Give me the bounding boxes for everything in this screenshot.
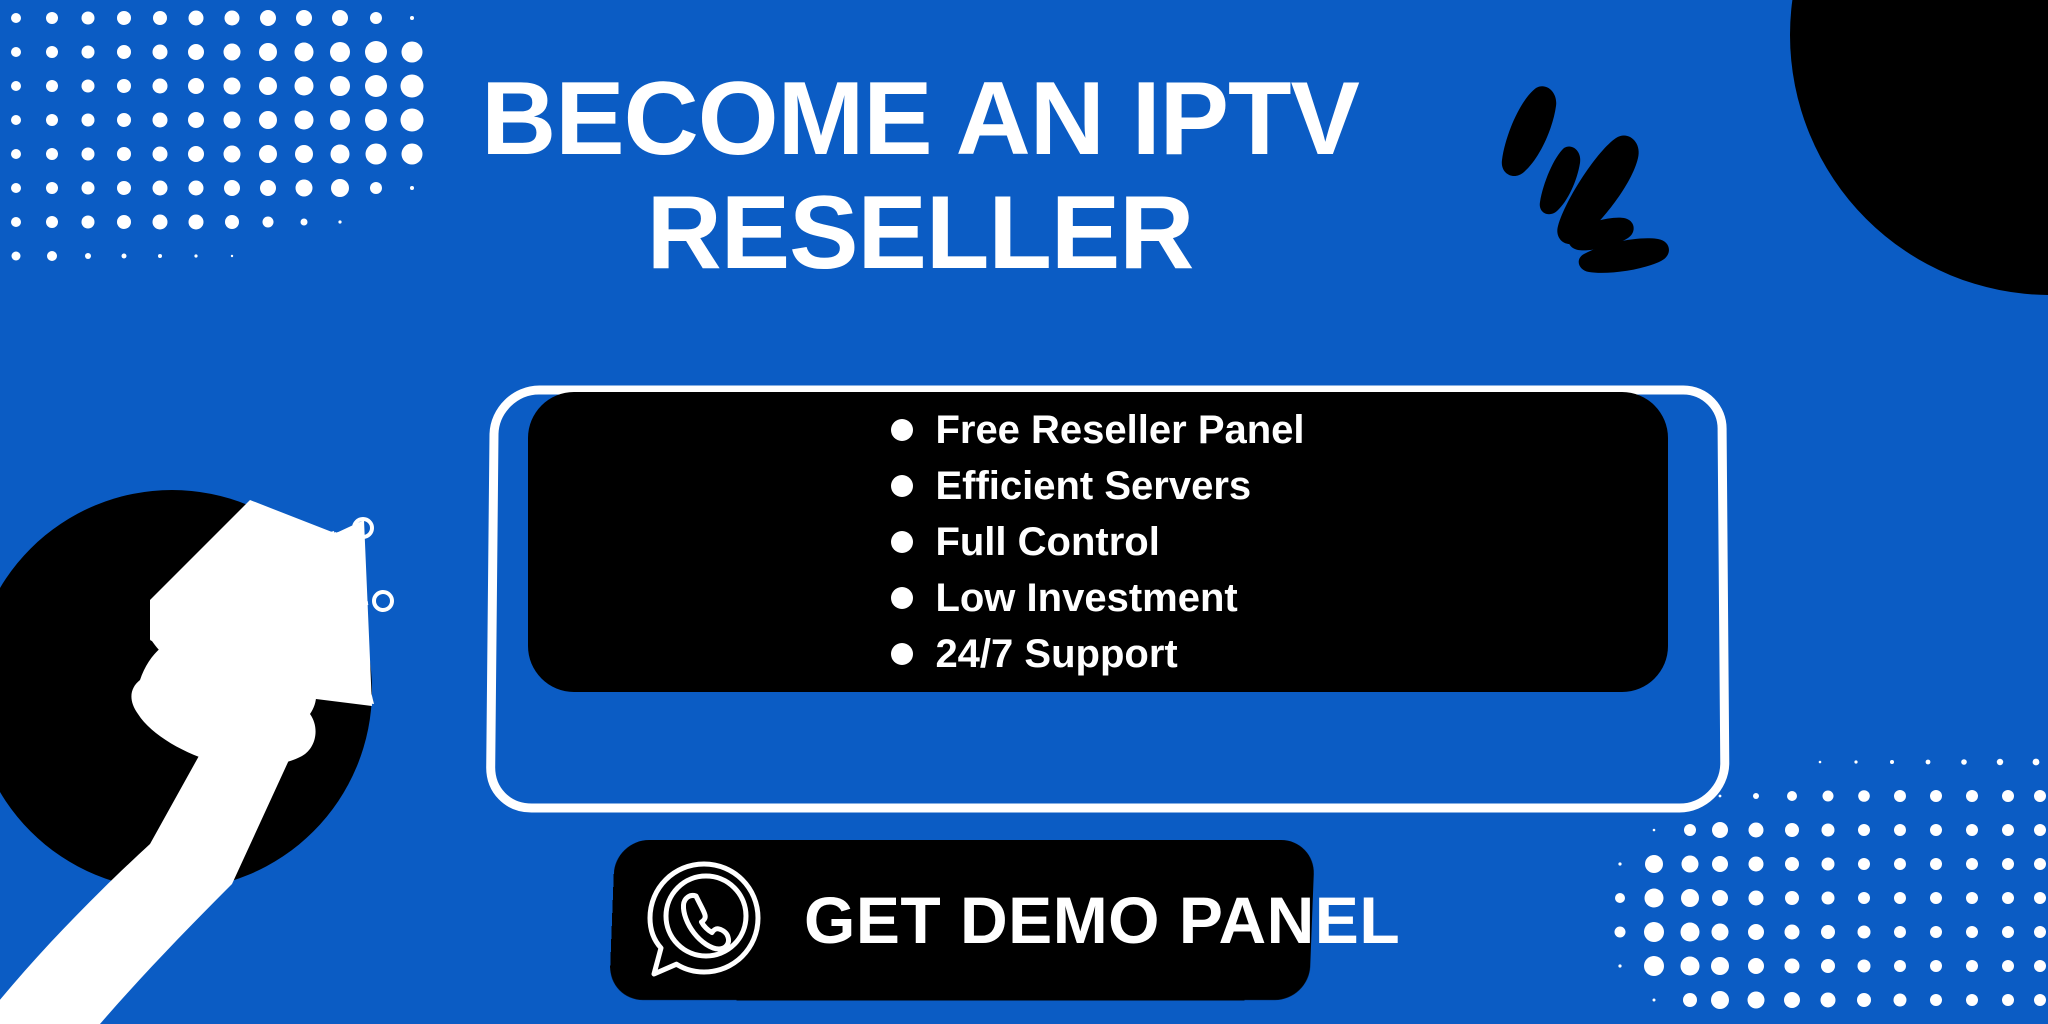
feature-label: 24/7 Support <box>935 626 1177 682</box>
bullet-icon <box>891 531 913 553</box>
cta-label: GET DEMO PANEL <box>804 882 1400 958</box>
feature-label: Free Reseller Panel <box>935 402 1304 458</box>
bullet-icon <box>891 419 913 441</box>
whatsapp-icon <box>640 856 768 984</box>
list-item: 24/7 Support <box>891 626 1304 682</box>
list-item: Full Control <box>891 514 1304 570</box>
features-list: Free Reseller Panel Efficient Servers Fu… <box>891 402 1304 682</box>
features-card: Free Reseller Panel Efficient Servers Fu… <box>528 392 1668 692</box>
banner-root: BECOME AN IPTV RESELLER Free Reseller Pa… <box>0 0 2048 1024</box>
list-item: Low Investment <box>891 570 1304 626</box>
feature-label: Low Investment <box>935 570 1237 626</box>
feature-label: Efficient Servers <box>935 458 1251 514</box>
list-item: Efficient Servers <box>891 458 1304 514</box>
feature-label: Full Control <box>935 514 1159 570</box>
cta-content: GET DEMO PANEL <box>612 840 1312 1000</box>
get-demo-panel-button[interactable]: GET DEMO PANEL <box>612 840 1312 1000</box>
bullet-icon <box>891 587 913 609</box>
list-item: Free Reseller Panel <box>891 402 1304 458</box>
bullet-icon <box>891 475 913 497</box>
bullet-icon <box>891 643 913 665</box>
